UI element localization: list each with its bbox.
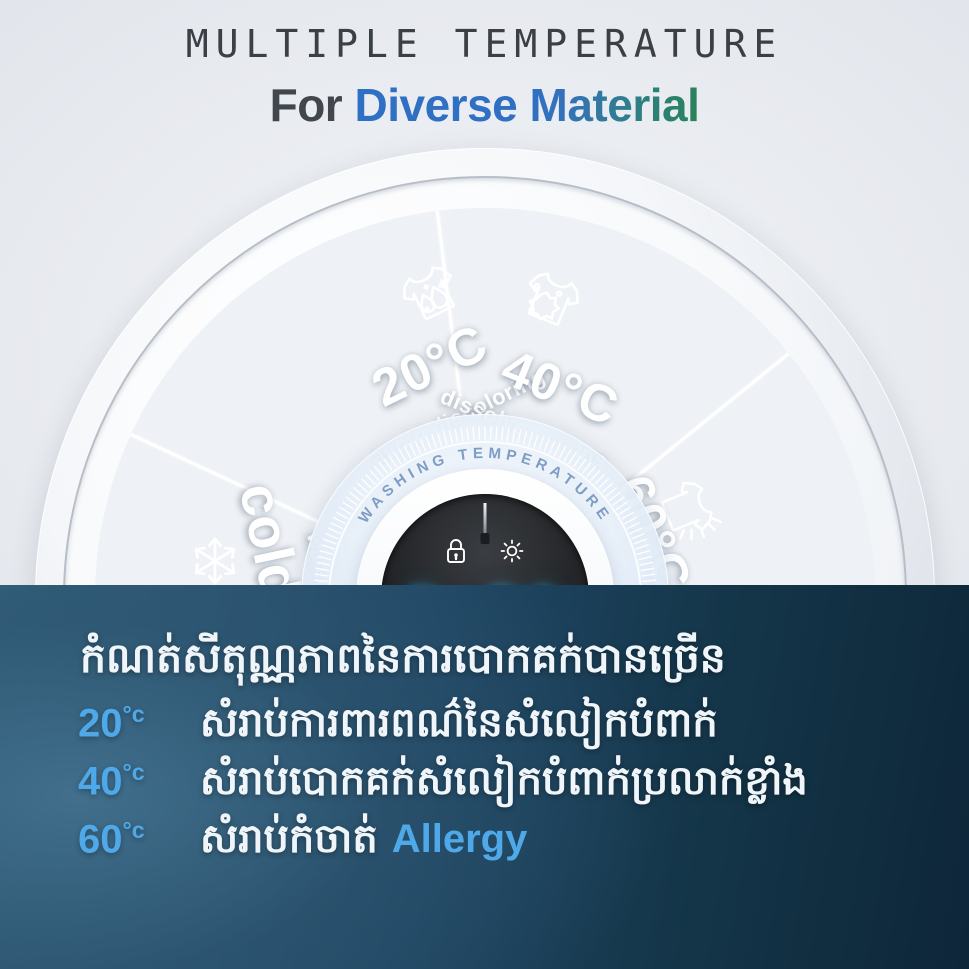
panel-row-60c: 60°c សំរាប់កំចាត់ Allergy — [0, 812, 969, 866]
panel-row-60c-text: សំរាប់កំចាត់ — [200, 812, 378, 866]
panel-row-40c-unit: °c — [123, 759, 145, 785]
panel-row-60c-unit: °c — [123, 817, 145, 843]
panel-row-60c-temp: 60°c — [78, 817, 186, 862]
panel-row-20c-value: 20 — [78, 701, 123, 745]
page-title-part-for: For — [270, 79, 355, 131]
panel-row-40c: 40°c សំរាប់បោកគក់សំលៀកបំពាក់ប្រលាក់ខ្លាំ… — [0, 754, 969, 808]
panel-row-40c-value: 40 — [78, 759, 123, 803]
panel-row-60c-value: 60 — [78, 817, 123, 861]
panel-row-20c-text: សំរាប់ការពារពណ៌នៃសំលៀកបំពាក់ — [200, 696, 718, 750]
page-title: For Diverse Material — [0, 78, 969, 132]
panel-row-40c-text: សំរាប់បោកគក់សំលៀកបំពាក់ប្រលាក់ខ្លាំង — [200, 754, 808, 808]
panel-heading: កំណត់សីតុណ្ណភាពនៃការបោកគក់បានច្រើន — [80, 631, 726, 686]
panel-row-60c-accent: Allergy — [392, 817, 528, 862]
header-block: MULTIPLE TEMPERATURE For Diverse Materia… — [0, 0, 969, 132]
panel-row-40c-temp: 40°c — [78, 759, 186, 804]
panel-row-20c: 20°c សំរាប់ការពារពណ៌នៃសំលៀកបំពាក់ — [0, 696, 969, 750]
padlock-icon[interactable] — [445, 538, 467, 569]
sun-icon[interactable] — [499, 538, 525, 569]
infographic-root: MULTIPLE TEMPERATURE For Diverse Materia… — [0, 0, 969, 969]
page-title-part-diverse: Diverse — [355, 79, 530, 131]
panel-row-20c-temp: 20°c — [78, 701, 186, 746]
led-status-icons — [381, 538, 589, 569]
panel-row-20c-unit: °c — [123, 701, 145, 727]
page-title-part-material: Material — [530, 79, 700, 131]
page-kicker: MULTIPLE TEMPERATURE — [0, 22, 969, 66]
description-panel: កំណត់សីតុណ្ណភាពនៃការបោកគក់បានច្រើន 20°c … — [0, 585, 969, 969]
panel-heading-row: កំណត់សីតុណ្ណភាពនៃការបោកគក់បានច្រើន — [0, 631, 969, 686]
